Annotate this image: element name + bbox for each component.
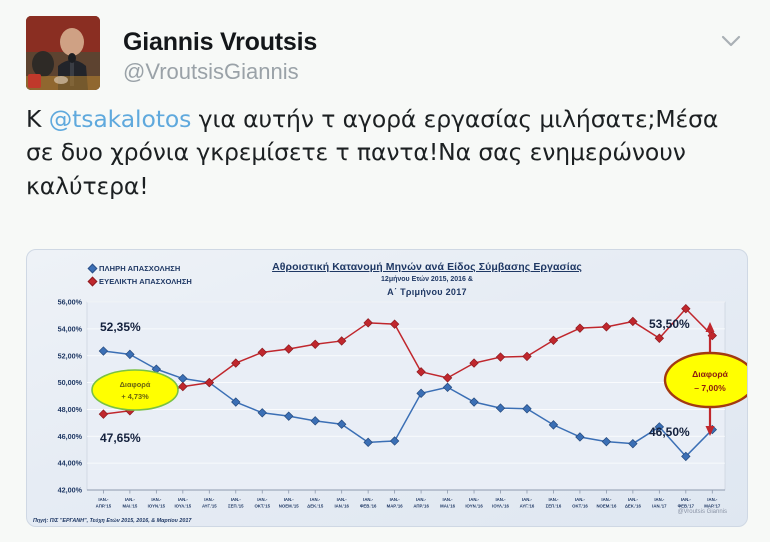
svg-text:ΙΑΝ.-: ΙΑΝ.- bbox=[654, 497, 665, 502]
svg-text:ΙΑΝ.-: ΙΑΝ.- bbox=[98, 497, 109, 502]
svg-text:ΙΑΝ.-: ΙΑΝ.- bbox=[469, 497, 480, 502]
annotation-right-balloon: Διαφορά – 7,00% bbox=[665, 353, 748, 407]
svg-text:ΟΚΤ.'16: ΟΚΤ.'16 bbox=[572, 504, 588, 509]
svg-text:ΙΑΝ.-: ΙΑΝ.- bbox=[125, 497, 136, 502]
svg-text:ΑΥΓ.'15: ΑΥΓ.'15 bbox=[202, 504, 217, 509]
svg-text:ΝΟΕΜ.'15: ΝΟΕΜ.'15 bbox=[279, 504, 299, 509]
svg-text:ΝΟΕΜ.'16: ΝΟΕΜ.'16 bbox=[596, 504, 616, 509]
svg-text:ΙΑΝ.-: ΙΑΝ.- bbox=[522, 497, 533, 502]
x-tick-label: ΙΑΝ.-ΙΟΥΝ.'16 bbox=[465, 497, 483, 509]
x-tick-label: ΙΑΝ.-ΔΕΚ.'16 bbox=[625, 497, 642, 509]
svg-text:ΙΑΝ.-: ΙΑΝ.- bbox=[601, 497, 612, 502]
x-tick-label: ΙΑΝ.-ΜΑΙ.'16 bbox=[440, 497, 455, 509]
svg-text:ΙΟΥΝ.'15: ΙΟΥΝ.'15 bbox=[148, 504, 166, 509]
svg-text:ΟΚΤ.'15: ΟΚΤ.'15 bbox=[254, 504, 270, 509]
chart-card: ΠΛΗΡΗ ΑΠΑΣΧΟΛΗΣΗ ΕΥΕΛΙΚΤΗ ΑΠΑΣΧΟΛΗΣΗ Αθρ… bbox=[26, 249, 748, 527]
x-tick-label: ΙΑΝ.-ΙΟΥΛ.'16 bbox=[492, 497, 509, 509]
svg-text:ΙΑΝ.-: ΙΑΝ.- bbox=[495, 497, 506, 502]
chart-plot: 56,00%54,00%52,00%50,00%48,00%46,00%44,0… bbox=[27, 250, 748, 527]
x-tick-label: ΙΑΝ.-ΦΕΒ.'16 bbox=[360, 497, 377, 509]
svg-text:ΙΑΝ.-: ΙΑΝ.- bbox=[707, 497, 718, 502]
svg-text:ΙΟΥΝ.'16: ΙΟΥΝ.'16 bbox=[465, 504, 483, 509]
svg-text:ΙΑΝ.-: ΙΑΝ.- bbox=[231, 497, 242, 502]
tweet-text: Κ @tsakalotos για αυτήν τ αγορά εργασίας… bbox=[0, 90, 770, 203]
svg-text:ΜΑΙ.'15: ΜΑΙ.'15 bbox=[122, 504, 137, 509]
svg-text:ΙΑΝ.-: ΙΑΝ.- bbox=[363, 497, 374, 502]
x-tick-label: ΙΑΝ.-ΜΑΙ.'15 bbox=[122, 497, 137, 509]
y-tick-label: 54,00% bbox=[58, 324, 83, 333]
annotation-left-blue-label: 52,35% bbox=[100, 320, 141, 334]
annotation-left-balloon: Διαφορά + 4,73% bbox=[92, 370, 178, 410]
svg-text:ΑΥΓ.'16: ΑΥΓ.'16 bbox=[520, 504, 535, 509]
chart-source-note: Πηγή: Π/Σ "ΕΡΓΑΝΗ", Τεύχη Ετών 2015, 201… bbox=[33, 518, 192, 524]
svg-text:ΙΟΥΛ.'15: ΙΟΥΛ.'15 bbox=[174, 504, 191, 509]
chevron-down-icon bbox=[721, 35, 741, 48]
x-tick-label: ΙΑΝ.-ΑΥΓ.'16 bbox=[520, 497, 535, 509]
y-tick-label: 44,00% bbox=[58, 459, 83, 468]
left-balloon-line2: + 4,73% bbox=[121, 392, 149, 401]
x-tick-label: ΙΑΝ.-ΑΠΡ.'16 bbox=[413, 497, 429, 509]
right-balloon-line1: Διαφορά bbox=[692, 369, 729, 379]
svg-text:ΙΑΝ.-: ΙΑΝ.- bbox=[284, 497, 295, 502]
svg-text:ΙΑΝ.-: ΙΑΝ.- bbox=[337, 497, 348, 502]
chart-watermark: @Vroutsis Giannis bbox=[677, 509, 727, 515]
svg-text:ΜΑΡ.'17: ΜΑΡ.'17 bbox=[704, 504, 721, 509]
svg-text:ΣΕΠ.'16: ΣΕΠ.'16 bbox=[546, 504, 562, 509]
svg-text:ΙΑΝ.-: ΙΑΝ.- bbox=[310, 497, 321, 502]
left-balloon-line1: Διαφορά bbox=[120, 380, 151, 389]
svg-text:ΙΑΝ.-: ΙΑΝ.- bbox=[681, 497, 692, 502]
x-tick-label: ΙΑΝ.-ΜΑΡ.'16 bbox=[387, 497, 404, 509]
svg-text:ΙΑΝ.-: ΙΑΝ.- bbox=[151, 497, 162, 502]
x-tick-label: ΙΑΝ.-ΝΟΕΜ.'15 bbox=[279, 497, 299, 509]
x-tick-label: ΙΑΝ.-ΙΟΥΛ.'15 bbox=[174, 497, 191, 509]
y-tick-label: 56,00% bbox=[58, 298, 83, 307]
avatar[interactable] bbox=[26, 16, 100, 90]
svg-text:ΙΟΥΛ.'16: ΙΟΥΛ.'16 bbox=[492, 504, 509, 509]
svg-text:ΙΑΝ.-: ΙΑΝ.- bbox=[178, 497, 189, 502]
y-tick-label: 50,00% bbox=[58, 378, 83, 387]
right-balloon-line2: – 7,00% bbox=[694, 383, 726, 393]
x-tick-label: ΙΑΝ.-ΙΟΥΝ.'15 bbox=[148, 497, 166, 509]
chart-x-axis-labels: ΙΑΝ.-ΑΠΡ.'15ΙΑΝ.-ΜΑΙ.'15ΙΑΝ.-ΙΟΥΝ.'15ΙΑΝ… bbox=[96, 497, 721, 509]
svg-text:ΔΕΚ.'16: ΔΕΚ.'16 bbox=[625, 504, 642, 509]
svg-text:ΑΠΡ.'16: ΑΠΡ.'16 bbox=[413, 504, 429, 509]
x-tick-label: ΙΑΝ.-ΟΚΤ.'16 bbox=[572, 497, 588, 509]
x-tick-label: ΙΑΝ.-ΑΥΓ.'15 bbox=[202, 497, 217, 509]
svg-text:ΙΑΝ.-: ΙΑΝ.- bbox=[628, 497, 639, 502]
x-tick-label: ΙΑΝ.-ΦΕΒ.'17 bbox=[678, 497, 695, 509]
svg-text:ΑΠΡ.'15: ΑΠΡ.'15 bbox=[96, 504, 112, 509]
y-tick-label: 42,00% bbox=[58, 486, 83, 495]
x-tick-label: ΙΑΝ.-ΑΠΡ.'15 bbox=[96, 497, 112, 509]
x-tick-label: ΙΑΝ.-ΣΕΠ.'15 bbox=[228, 497, 244, 509]
svg-text:ΙΑΝ.-: ΙΑΝ.- bbox=[204, 497, 215, 502]
chart-y-axis-labels: 56,00%54,00%52,00%50,00%48,00%46,00%44,0… bbox=[58, 298, 83, 495]
svg-text:ΙΑΝ.-: ΙΑΝ.- bbox=[416, 497, 427, 502]
x-tick-label: ΙΑΝ.-ΙΑΝ.'17 bbox=[652, 497, 667, 509]
annotation-right-blue-label: 46,50% bbox=[649, 425, 690, 439]
y-tick-label: 46,00% bbox=[58, 432, 83, 441]
svg-text:ΙΑΝ.-: ΙΑΝ.- bbox=[390, 497, 401, 502]
annotation-left-red-label: 47,65% bbox=[100, 431, 141, 445]
x-tick-label: ΙΑΝ.-ΝΟΕΜ.'16 bbox=[596, 497, 616, 509]
tweet-header: Giannis Vroutsis @VroutsisGiannis bbox=[0, 0, 770, 90]
display-name: Giannis Vroutsis bbox=[123, 28, 317, 57]
user-handle[interactable]: @VroutsisGiannis bbox=[123, 58, 317, 86]
svg-text:ΣΕΠ.'15: ΣΕΠ.'15 bbox=[228, 504, 244, 509]
avatar-photo-icon bbox=[26, 16, 100, 90]
x-tick-label: ΙΑΝ.-ΟΚΤ.'15 bbox=[254, 497, 270, 509]
tweet-options-button[interactable] bbox=[716, 28, 746, 54]
mention-link[interactable]: @tsakalotos bbox=[49, 105, 192, 133]
svg-text:ΙΑΝ.-: ΙΑΝ.- bbox=[575, 497, 586, 502]
svg-text:ΙΑΝ.'17: ΙΑΝ.'17 bbox=[652, 504, 667, 509]
plot-area-background bbox=[87, 302, 725, 490]
y-tick-label: 52,00% bbox=[58, 351, 83, 360]
x-tick-label: ΙΑΝ.-ΙΑΝ.'16 bbox=[334, 497, 349, 509]
tweet-text-part1: Κ bbox=[26, 105, 49, 133]
user-names: Giannis Vroutsis @VroutsisGiannis bbox=[100, 16, 317, 85]
x-tick-label: ΙΑΝ.-ΔΕΚ.'15 bbox=[307, 497, 324, 509]
x-tick-label: ΙΑΝ.-ΣΕΠ.'16 bbox=[546, 497, 562, 509]
svg-text:ΔΕΚ.'15: ΔΕΚ.'15 bbox=[307, 504, 324, 509]
x-tick-label: ΙΑΝ.-ΜΑΡ.'17 bbox=[704, 497, 721, 509]
svg-text:ΦΕΒ.'17: ΦΕΒ.'17 bbox=[678, 504, 695, 509]
svg-text:ΙΑΝ.-: ΙΑΝ.- bbox=[548, 497, 559, 502]
chart-x-axis-line bbox=[87, 490, 725, 494]
svg-text:ΦΕΒ.'16: ΦΕΒ.'16 bbox=[360, 504, 377, 509]
annotation-right-red-label: 53,50% bbox=[649, 317, 690, 331]
svg-text:ΙΑΝ.-: ΙΑΝ.- bbox=[443, 497, 454, 502]
svg-text:ΙΑΝ.'16: ΙΑΝ.'16 bbox=[334, 504, 349, 509]
svg-text:ΜΑΙ.'16: ΜΑΙ.'16 bbox=[440, 504, 455, 509]
y-tick-label: 48,00% bbox=[58, 405, 83, 414]
svg-text:ΜΑΡ.'16: ΜΑΡ.'16 bbox=[387, 504, 404, 509]
svg-text:ΙΑΝ.-: ΙΑΝ.- bbox=[257, 497, 268, 502]
